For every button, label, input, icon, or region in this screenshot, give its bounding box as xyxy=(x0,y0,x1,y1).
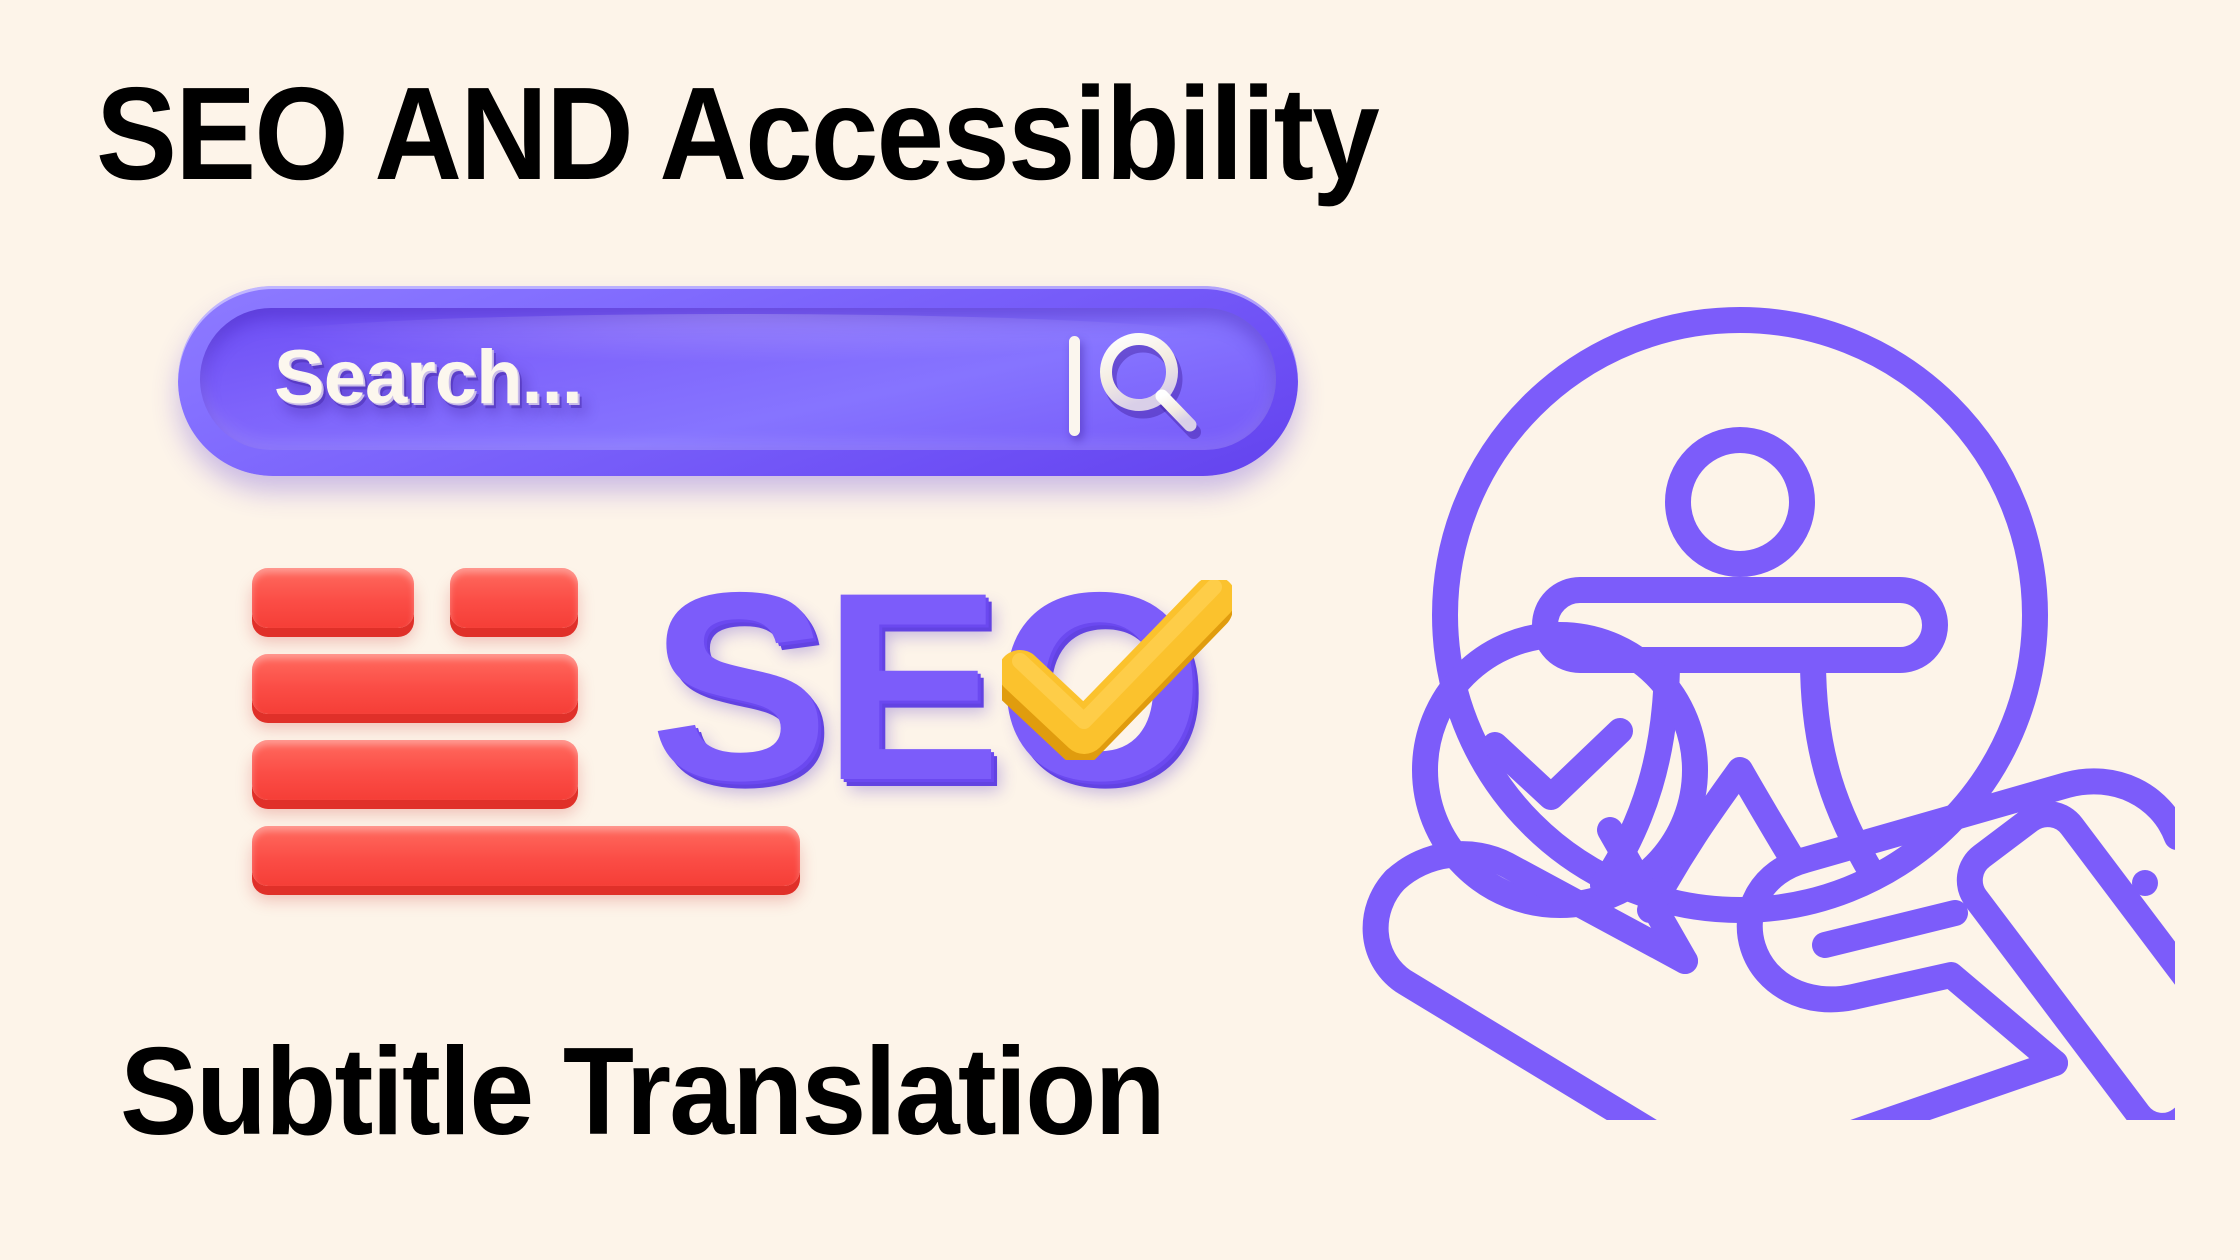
hand-index-finger xyxy=(1825,913,1955,945)
search-placeholder-text: Search... xyxy=(274,334,582,421)
device-card-dot xyxy=(2132,870,2158,896)
poster-canvas: SEO AND Accessibility Search... xyxy=(0,0,2240,1260)
bar-segment xyxy=(450,568,578,628)
bar-segment xyxy=(252,740,578,800)
accessibility-in-hand-icon xyxy=(1355,285,2175,1120)
check-mark-icon xyxy=(1002,580,1232,760)
search-field-divider xyxy=(1069,336,1080,436)
search-input[interactable]: Search... xyxy=(200,308,1276,450)
page-title: SEO AND Accessibility xyxy=(96,68,1378,200)
bar-segment xyxy=(252,654,578,714)
bar-segment xyxy=(252,568,414,628)
page-subtitle: Subtitle Translation xyxy=(120,1030,1164,1154)
search-icon[interactable] xyxy=(1084,326,1210,446)
seo-logo: SEO xyxy=(650,552,1290,842)
accessibility-person-head xyxy=(1678,440,1802,564)
search-bar[interactable]: Search... xyxy=(178,286,1298,476)
